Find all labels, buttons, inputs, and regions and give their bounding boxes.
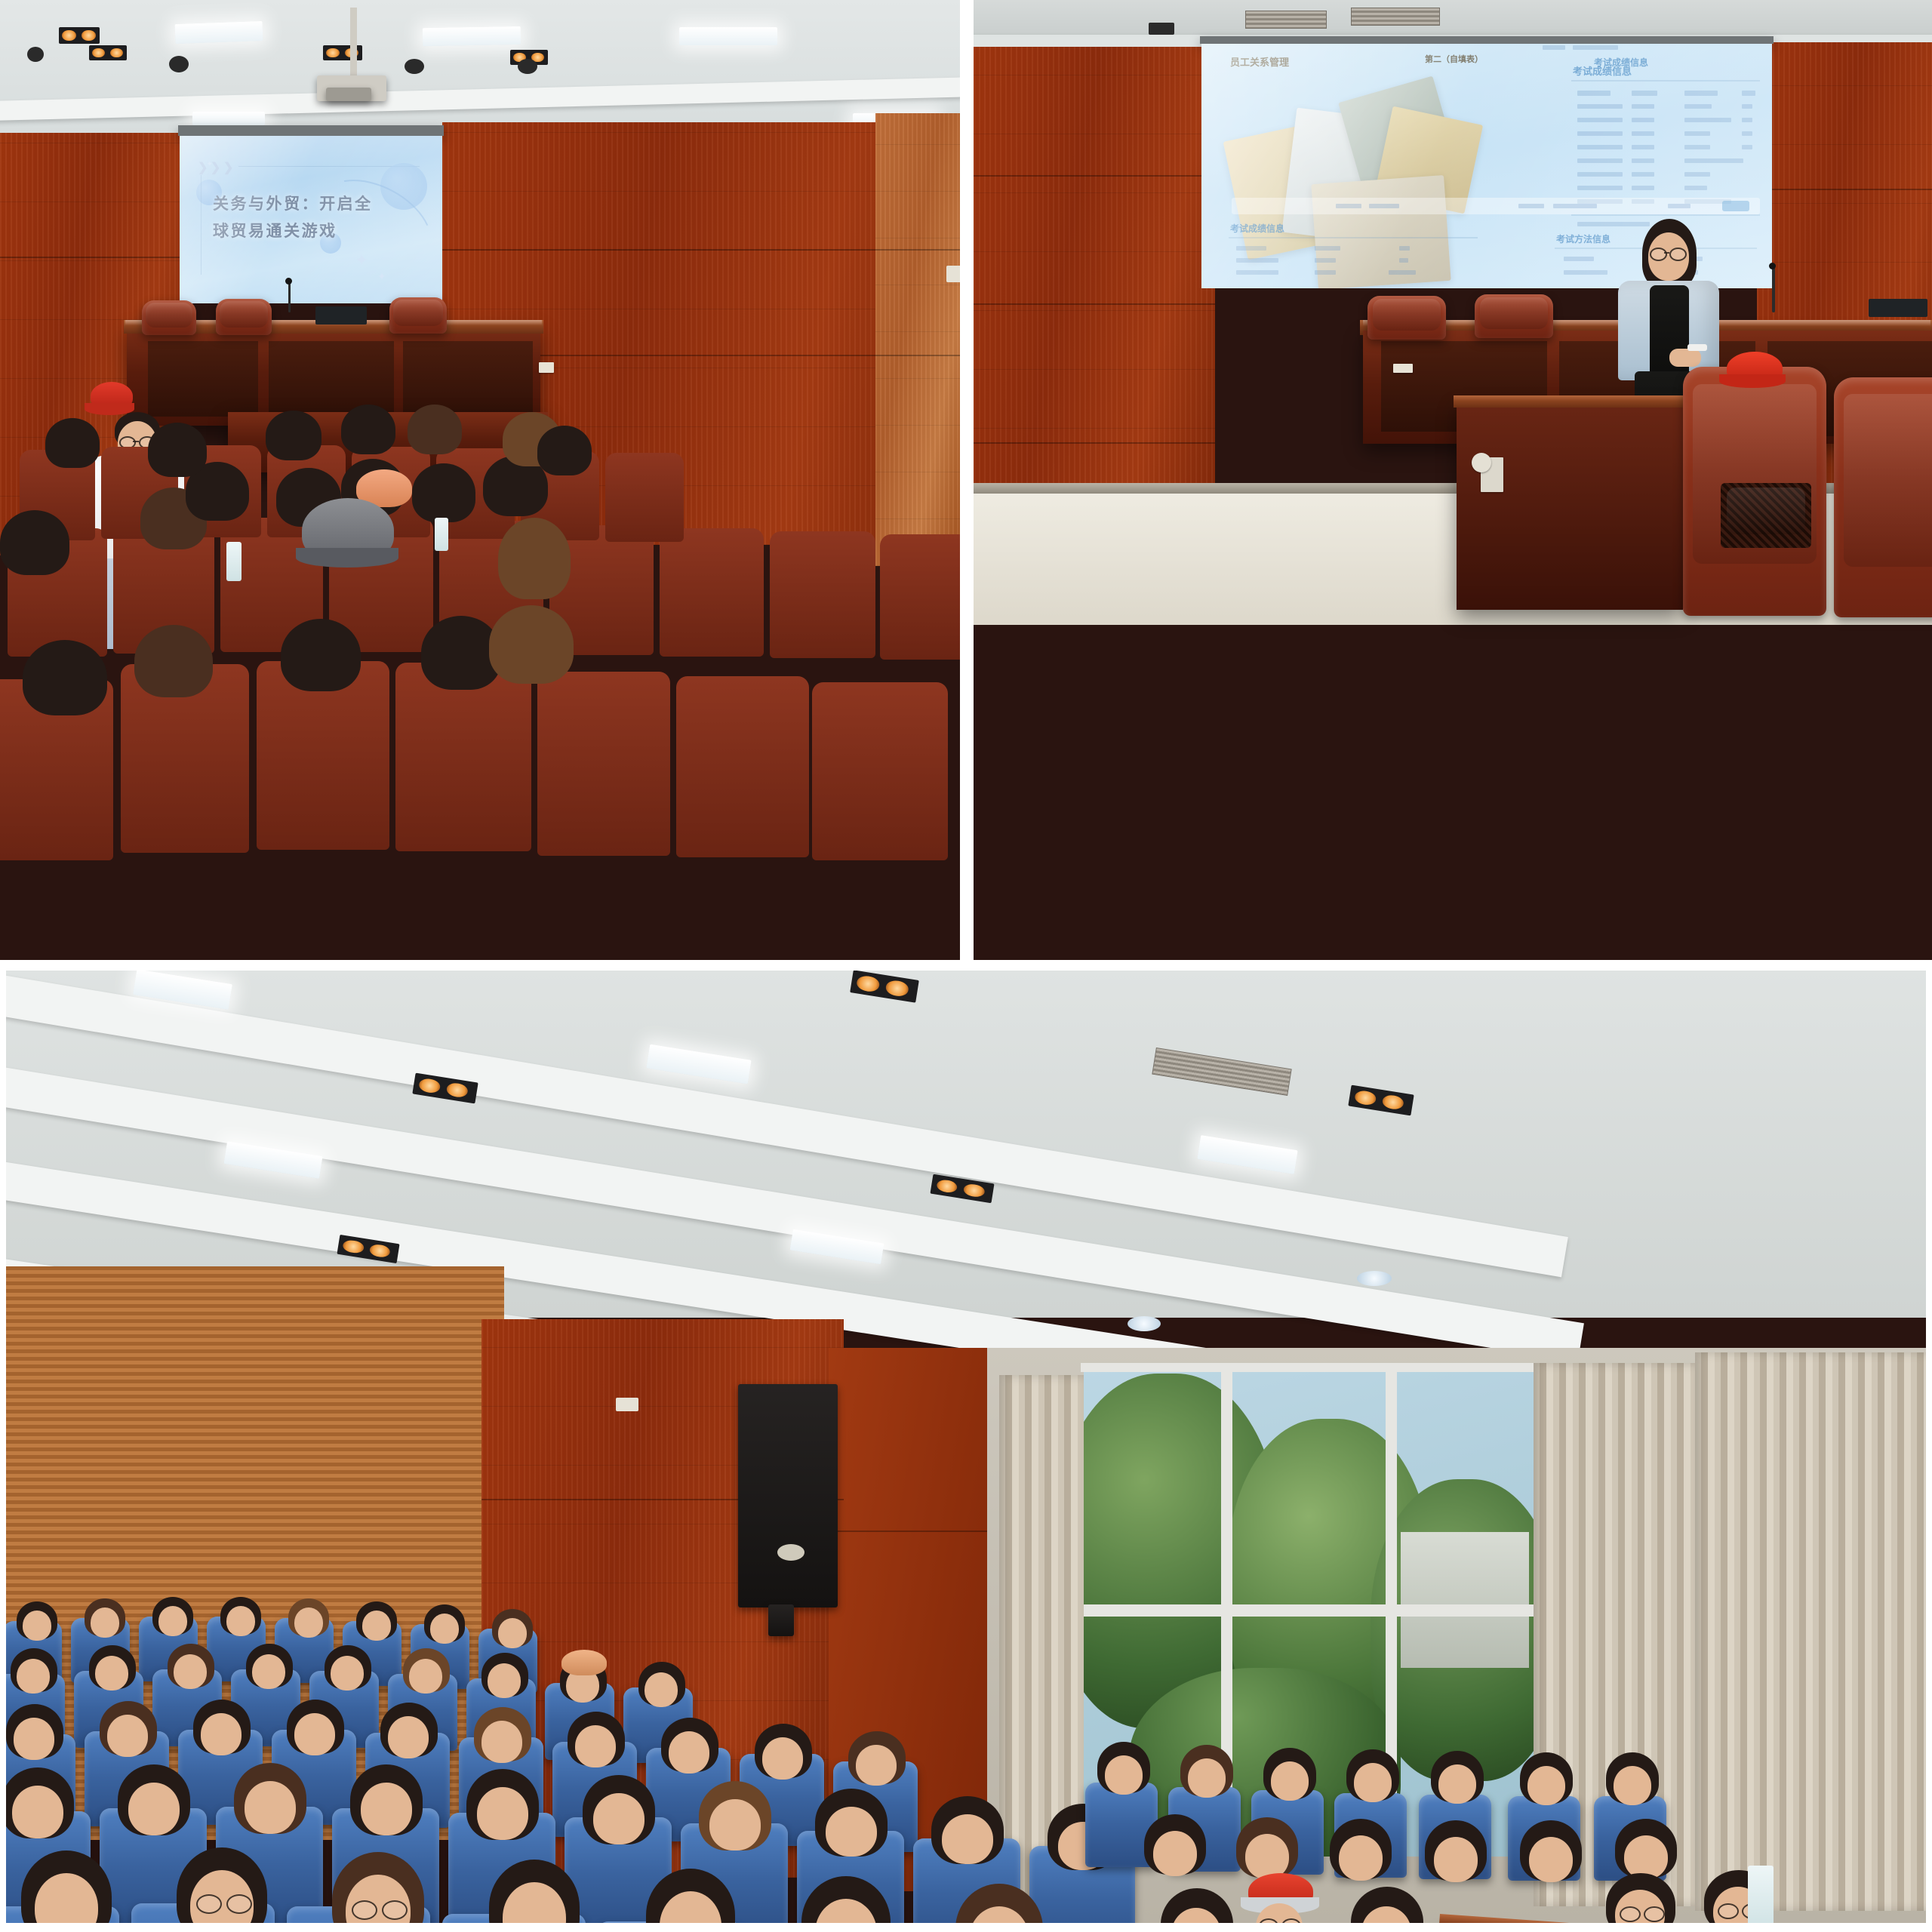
audience-face [669,1731,709,1774]
red-cap-brim [85,403,134,415]
erp-column-header [1236,246,1266,251]
microphone-stand [288,282,291,312]
erp-table-cell [1684,172,1710,177]
wall-wood-far-right [875,113,960,566]
erp-table-cell [1399,258,1408,263]
presenter-glasses [1669,248,1687,261]
audience-seat [812,682,948,860]
audience-face [1614,1766,1651,1805]
podium-chair [389,297,447,334]
photo-lecture-left: ❯❯❯ ✦ ✦ ✦ 关务与外贸：开启全 球贸易通关游戏 [0,0,960,960]
slide-title-line-1: 关务与外贸：开启全 [213,193,373,216]
audience-face [226,1606,255,1636]
wall-seam [974,303,1215,305]
erp-column-header [1632,91,1657,96]
microphone-head [285,278,292,285]
erp-search-label [1518,204,1544,208]
audience-face [1271,1761,1309,1801]
audience-face [942,1814,993,1864]
wall-speaker [738,1384,838,1607]
photo-audience-wide [6,971,1926,1923]
audience-face [174,1654,207,1689]
projection-screen-frame [178,125,444,136]
audience-face [107,1715,148,1757]
audience-head [45,418,100,468]
grey-cap-brim [296,548,398,568]
erp-table-cell [1742,118,1752,122]
audience-seat [676,676,809,857]
slide-sparkle-icon: ✦ [377,270,386,283]
wall-seam [442,249,960,251]
orange-cap [561,1650,607,1675]
audience-face [1529,1837,1573,1882]
audience-face [1438,1764,1476,1804]
audience-face [409,1659,442,1694]
audience-glasses [382,1900,408,1920]
audience-face [361,1783,412,1835]
wall-seam [0,257,189,258]
podium-chair [216,299,272,335]
erp-table-cell [1742,145,1752,149]
erp-search-value [1369,204,1399,208]
erp-top-field-value [1573,45,1618,50]
laptop [315,306,367,325]
erp-panel-left-title: 考试成绩信息 [1230,222,1284,235]
ceiling-vent [1351,8,1440,26]
presenter-glasses [1650,248,1667,261]
erp-table-cell [1684,145,1710,149]
ceiling-downlight [1357,1271,1392,1286]
red-cap-brim [1719,374,1786,388]
ceiling-vent [1245,11,1327,29]
erp-search-value [1553,204,1597,208]
ceiling-panel-light [175,21,263,44]
erp-search-label [1668,204,1690,208]
audience-face [1105,1755,1143,1795]
erp-column-header [1399,246,1410,251]
audience-face [645,1672,678,1707]
audience-head [498,518,571,599]
audience-face [488,1663,521,1698]
audience-seat [770,531,875,658]
audience-face [294,1607,323,1638]
erp-column-header [1577,91,1611,96]
audience-face [1527,1766,1565,1805]
audience-head [148,423,207,477]
audience-face [575,1725,616,1767]
foreground-seat [1834,377,1932,617]
ceiling-spotlight [169,56,189,72]
erp-table-cell [1632,172,1654,177]
ceiling-spotlight [27,47,44,62]
audience-seat [880,534,960,660]
water-bottle [435,518,448,551]
audience-face [91,1607,119,1638]
erp-table-cell [1236,258,1278,263]
projector-lens [326,88,371,101]
podium-chair [142,300,196,335]
erp-table-cell [1684,118,1731,122]
audience-head [134,625,213,697]
microphone-stand [1772,267,1775,312]
audience-face [762,1737,803,1780]
audience-face [201,1713,241,1755]
desk-tag [1472,453,1491,472]
curtain-far-right [1695,1352,1926,1911]
erp-table-cell [1742,104,1752,109]
erp-table-cell [1577,145,1623,149]
water-bottle [226,542,241,581]
audience-face [14,1718,54,1760]
audience-head [266,411,321,460]
erp-table-cell [1684,131,1710,136]
slide-sparkle-icon: ✦ [207,160,213,168]
wall-seam [974,442,1215,444]
slide-vertical-rule [201,175,202,275]
erp-divider [1229,237,1478,238]
audience-head [23,640,107,715]
audience-face [1339,1835,1383,1881]
audience-face [856,1745,897,1786]
wall-plate [1149,23,1174,35]
wall-seam [974,175,1215,177]
audience-face [1188,1758,1226,1798]
erp-table-cell [1577,186,1623,190]
podium-chair [1367,296,1446,340]
audience-face [252,1654,285,1689]
audience-glasses [1644,1906,1665,1922]
ceiling-panel-light [423,26,521,46]
audience-face [1153,1831,1197,1876]
speaker-mount [768,1604,794,1636]
lecturer-glasses-bridge [133,441,139,442]
audience-face [477,1787,528,1840]
audience-head [408,405,462,454]
window-mullion [1084,1604,1537,1617]
audience-face [430,1614,459,1644]
erp-column-header [1315,246,1340,251]
erp-table-cell [1632,158,1654,163]
ceiling-panel-light [192,112,265,125]
speaker-badge [777,1544,804,1561]
desk-panel [148,341,258,417]
audience-face [1354,1763,1392,1802]
podium-chair [1475,294,1553,338]
audience-seat [605,453,684,542]
erp-divider [1571,80,1760,82]
slide-chevron-icon: ❯❯❯ [198,160,236,175]
erp-table-cell [1684,158,1743,163]
wall-plate [616,1398,638,1411]
audience-face [826,1807,877,1857]
erp-table-cell [1389,270,1416,275]
erp-top-field-label [1543,45,1565,50]
audience-face [245,1781,296,1834]
erp-table-cell [1236,270,1278,275]
audience-face [158,1606,187,1636]
erp-search-button[interactable] [1722,201,1749,211]
erp-table-cell [1577,104,1623,109]
audience-glasses [352,1900,377,1920]
audience-face [23,1611,51,1641]
audience-face [331,1656,364,1690]
erp-table-cell [1577,172,1623,177]
audience-glasses [1718,1903,1739,1919]
desk-tag [539,362,554,373]
ceiling-spotlight [405,59,424,74]
window-frame [1081,1363,1540,1372]
audience-face [388,1716,429,1758]
audience-face [128,1783,180,1835]
projector-mount-arm [350,8,357,80]
slide-title-line-2: 球贸易通关游戏 [213,220,337,243]
audience-head [341,405,395,454]
audience-seat [660,528,764,657]
audience-head [489,605,574,684]
erp-table-cell [1632,104,1654,109]
erp-table-cell [1315,270,1336,275]
audience-face [498,1618,527,1648]
erp-table-cell [1577,158,1623,163]
erp-table-cell [1577,118,1623,122]
ceiling-downlight [1128,1316,1161,1331]
audience-face [17,1659,50,1694]
erp-table-title: 考试成绩信息 [1573,63,1632,78]
photo-lecture-right: 员工关系管理 第二（自填表） 考试成绩信息 考试成绩信息 [974,0,1932,960]
audience-face [294,1713,335,1755]
presenter-glasses-bridge [1664,252,1669,254]
audience-head [412,463,475,522]
erp-heading-center: 第二（自填表） [1425,53,1483,65]
erp-table-cell [1632,145,1654,149]
wall-seam [829,1531,1002,1532]
erp-table-cell [1742,131,1752,136]
erp-table-cell [1632,186,1654,190]
audience-head [281,619,361,691]
laptop [1869,299,1927,317]
erp-table-cell [1632,131,1654,136]
projection-screen-frame [1200,36,1774,44]
audience-face [1434,1837,1478,1882]
erp-table-cell [1684,186,1707,190]
erp-column-header [1742,91,1755,96]
audience-face [481,1721,522,1763]
audience-seat [537,672,670,856]
erp-column-header [1564,257,1594,261]
audience-face [12,1786,63,1838]
wall-plate [946,266,960,282]
audience-glasses [1620,1906,1641,1922]
erp-table-cell [1684,104,1712,109]
audience-face [1245,1834,1289,1879]
audience-head [537,426,592,475]
audience-glasses [196,1894,222,1914]
ceiling-spotlight [89,45,127,60]
photo-collage: ❯❯❯ ✦ ✦ ✦ 关务与外贸：开启全 球贸易通关游戏 [0,0,1932,1932]
wall-seam [1757,189,1932,190]
building-far [1401,1532,1529,1668]
erp-column-header [1684,91,1718,96]
projection-screen: ❯❯❯ ✦ ✦ ✦ 关务与外贸：开启全 球贸易通关游戏 [180,136,442,303]
audience-face [1624,1835,1668,1879]
erp-heading-left: 员工关系管理 [1230,54,1289,69]
ceiling-spotlight [59,27,100,44]
audience-head [0,510,69,575]
audience-face [709,1799,761,1850]
foreground-desk-top [1454,395,1686,408]
microphone-head [1769,263,1776,269]
audience-face [362,1611,391,1641]
audience-face [593,1793,645,1844]
erp-search-label [1336,204,1361,208]
audience-seat [395,663,531,851]
erp-table-cell [1632,118,1654,122]
erp-table-cell [1315,258,1336,263]
presenter-hands [1669,349,1701,367]
ceiling-spotlight [518,59,537,74]
water-bottle [1748,1866,1774,1923]
presenter-clicker [1687,344,1707,351]
ceiling-panel-light [679,27,777,45]
desk-tag [1393,364,1413,373]
foreground-desk [1457,401,1683,610]
audience-glasses [226,1894,252,1914]
seat-net-pocket [1721,483,1811,548]
erp-table-cell [1577,131,1623,136]
audience-face [95,1656,128,1690]
